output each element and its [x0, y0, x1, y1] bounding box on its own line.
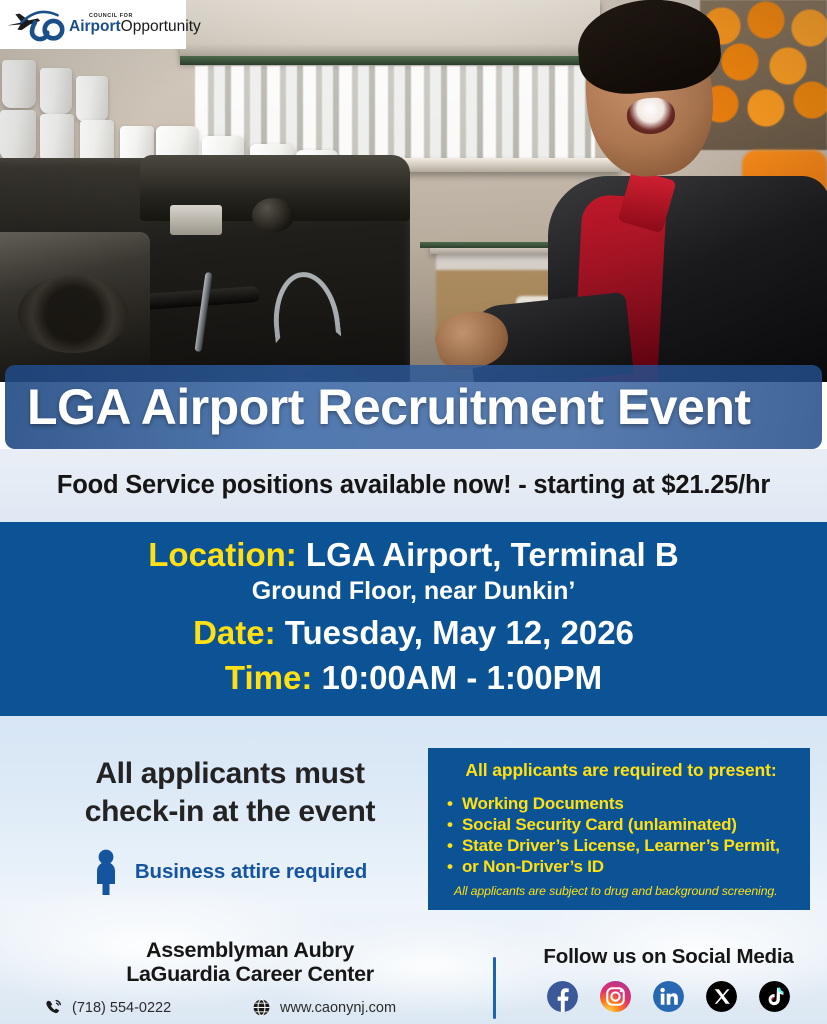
career-center-line-1: Assemblyman Aubry	[40, 938, 460, 962]
attire-row: Business attire required	[30, 849, 430, 895]
website-url: www.caonynj.com	[280, 1000, 396, 1016]
checkin-block: All applicants must check-in at the even…	[30, 755, 430, 895]
linkedin-icon[interactable]	[653, 981, 684, 1012]
globe-icon	[252, 998, 271, 1017]
title-banner: LGA Airport Recruitment Event	[5, 365, 822, 449]
x-icon[interactable]	[706, 981, 737, 1012]
website-contact[interactable]: www.caonynj.com	[252, 998, 460, 1017]
career-center-block: Assemblyman Aubry LaGuardia Career Cente…	[40, 938, 460, 1017]
event-date-row: Date: Tuesday, May 12, 2026	[0, 609, 827, 657]
social-block: Follow us on Social Media	[510, 945, 827, 1012]
career-center-line-2: LaGuardia Career Center	[40, 962, 460, 986]
attire-text: Business attire required	[135, 860, 367, 884]
footer-divider	[493, 957, 496, 1019]
cao-logo: COUNCIL FOR AirportOpportunity	[0, 0, 186, 49]
requirement-item: Working Documents	[446, 793, 796, 814]
checkin-title: All applicants must check-in at the even…	[30, 755, 430, 831]
facebook-icon[interactable]	[547, 981, 578, 1012]
social-title: Follow us on Social Media	[510, 945, 827, 969]
requirements-title: All applicants are required to present:	[446, 760, 796, 781]
subtitle-band: Food Service positions available now! - …	[0, 449, 827, 522]
social-icons-row	[510, 981, 827, 1012]
date-value: Tuesday, May 12, 2026	[285, 614, 634, 651]
event-location-row: Location: LGA Airport, Terminal B	[0, 536, 827, 575]
contact-row: (718) 554-0222 www.caonynj.com	[40, 998, 460, 1017]
requirements-box: All applicants are required to present: …	[428, 748, 810, 910]
requirement-item: State Driver’s License, Learner’s Permit…	[446, 835, 796, 856]
page-title: LGA Airport Recruitment Event	[27, 378, 751, 436]
logo-wordmark: COUNCIL FOR AirportOpportunity	[69, 14, 201, 35]
location-label: Location:	[148, 536, 296, 573]
phone-contact[interactable]: (718) 554-0222	[40, 998, 252, 1017]
event-time-row: Time: 10:00AM - 1:00PM	[0, 657, 827, 700]
phone-icon	[44, 998, 63, 1017]
checkin-line-2: check-in at the event	[30, 793, 430, 831]
recruitment-flyer: COUNCIL FOR AirportOpportunity LGA Airpo…	[0, 0, 827, 1024]
time-label: Time:	[225, 659, 312, 696]
subtitle-text: Food Service positions available now! - …	[57, 471, 770, 500]
barista-photo	[0, 0, 827, 382]
airplane-icon	[6, 7, 68, 43]
career-center-name: Assemblyman Aubry LaGuardia Career Cente…	[40, 938, 460, 986]
instagram-icon[interactable]	[600, 981, 631, 1012]
date-label: Date:	[193, 614, 276, 651]
phone-number: (718) 554-0222	[72, 1000, 171, 1016]
tiktok-icon[interactable]	[759, 981, 790, 1012]
requirements-list: Working Documents Social Security Card (…	[446, 793, 796, 877]
event-details: Location: LGA Airport, Terminal B Ground…	[0, 522, 827, 716]
person-icon	[93, 849, 119, 895]
photo-vignette	[0, 0, 827, 382]
requirement-item-continuation: or Non-Driver’s ID	[446, 856, 796, 877]
time-value: 10:00AM - 1:00PM	[321, 659, 602, 696]
requirements-note: All applicants are subject to drug and b…	[446, 884, 796, 898]
checkin-line-1: All applicants must	[30, 755, 430, 793]
location-value: LGA Airport, Terminal B	[306, 536, 679, 573]
logo-name-text: AirportOpportunity	[69, 18, 201, 35]
requirement-item: Social Security Card (unlaminated)	[446, 814, 796, 835]
event-location-sub: Ground Floor, near Dunkin’	[0, 575, 827, 609]
